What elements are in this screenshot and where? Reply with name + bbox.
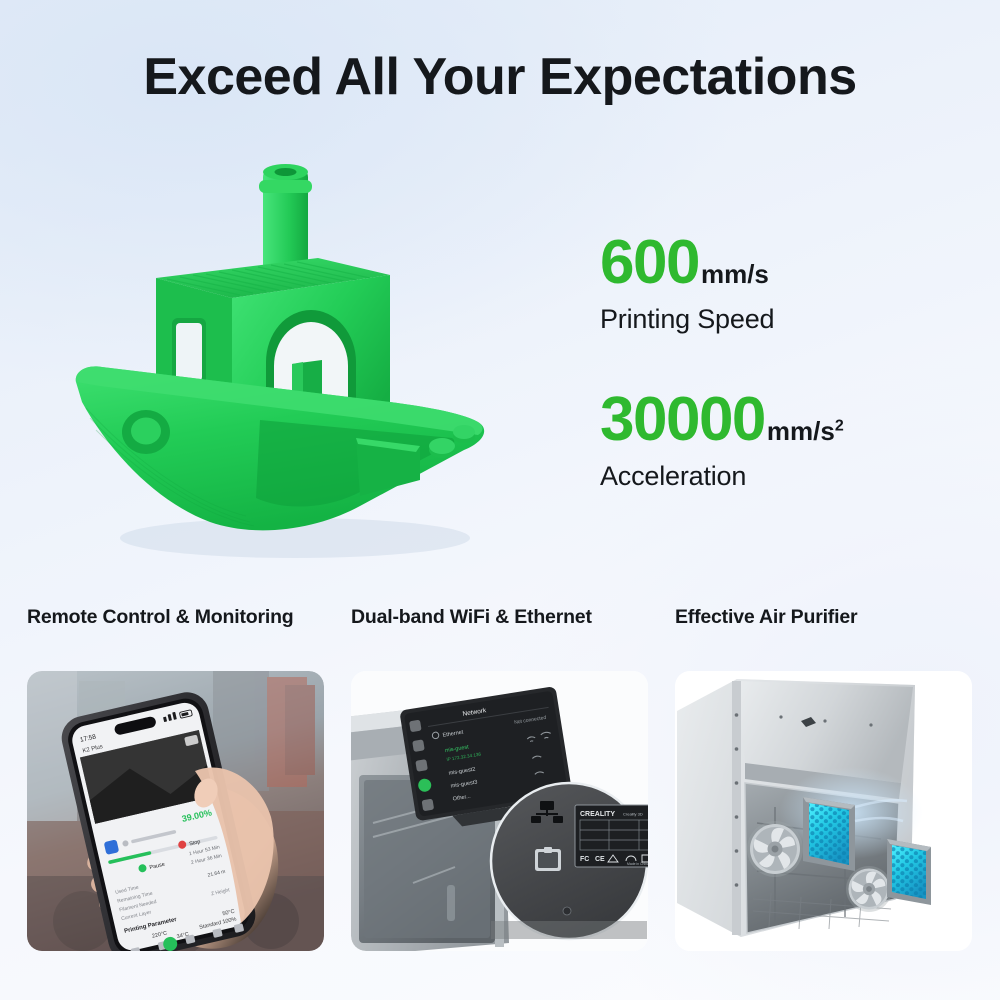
printer-touchscreen-network-photo: Network Ethernet Not connected mis-guest… [351,671,648,951]
spec-unit: mm/s2 [767,418,844,444]
feature-dual-band-wifi: Dual-band WiFi & Ethernet [351,605,648,951]
spec-printing-speed: 600 mm/s Printing Speed [600,232,980,335]
svg-text:CE: CE [595,856,605,863]
activated-carbon-filter-panel [887,839,931,905]
spec-acceleration: 30000 mm/s2 Acceleration [600,389,980,492]
printer-air-purifier-cutaway-photo [675,671,972,951]
phone-in-hand-app-photo: 17:58 K2 Plus [27,671,324,951]
feature-title: Dual-band WiFi & Ethernet [351,605,648,657]
product-rating-label: CREALITY Creality 3D [575,805,648,867]
brand-name: CREALITY [580,811,615,818]
cooling-fan-large [846,866,892,912]
feature-air-purifier: Effective Air Purifier [675,605,972,951]
spec-value: 30000 [600,389,765,451]
made-in-text: Made in China [627,862,648,866]
marketing-banner: Exceed All Your Expectations [0,0,1000,1000]
spec-list: 600 mm/s Printing Speed 30000 mm/s2 Acce… [600,232,980,546]
benchy-funnel [259,164,312,273]
svg-text:FC: FC [580,856,589,863]
feature-row: Remote Control & Monitoring [27,605,973,951]
activated-carbon-filter-panel [803,797,855,871]
feature-title: Remote Control & Monitoring [27,605,324,657]
cooling-fan-large [747,821,803,877]
spec-unit: mm/s [701,261,769,287]
feature-remote-control: Remote Control & Monitoring [27,605,324,951]
spec-label: Printing Speed [600,304,980,335]
hero-benchy-image [60,150,540,570]
spec-label: Acceleration [600,461,980,492]
spec-value: 600 [600,232,699,294]
benchy-hull [76,366,484,530]
feature-title: Effective Air Purifier [675,605,972,657]
ethernet-port-closeup: CREALITY Creality 3D [491,783,648,939]
label-title: Creality 3D [623,812,643,817]
page-title: Exceed All Your Expectations [0,47,1000,107]
